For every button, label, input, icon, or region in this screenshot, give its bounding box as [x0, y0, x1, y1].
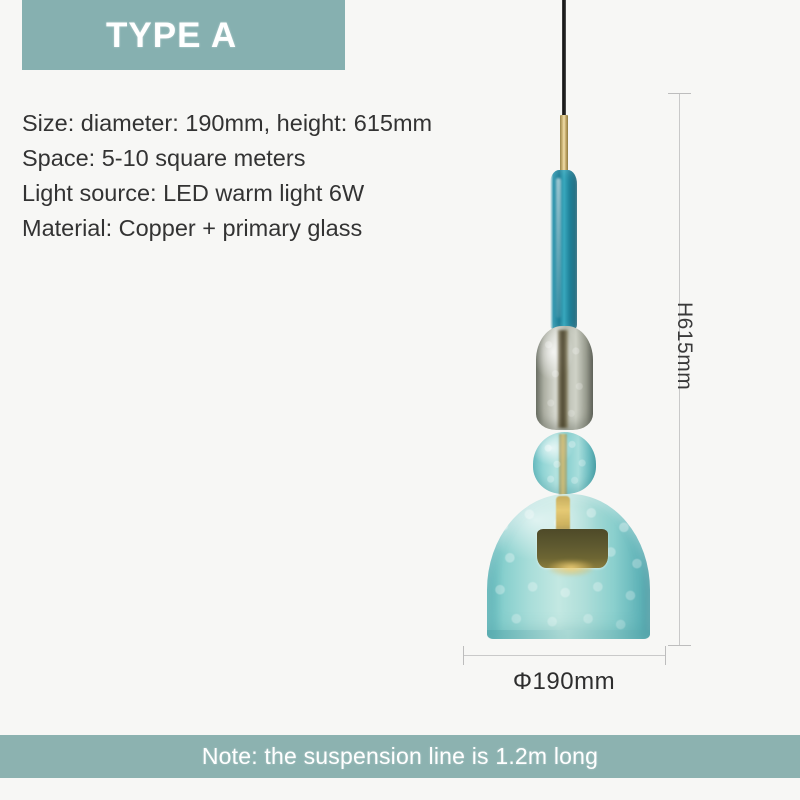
teal-sphere-dimple-texture: [533, 432, 596, 494]
diameter-dimension-label: Φ190mm: [463, 668, 665, 696]
height-dimension-cap-bottom: [668, 645, 691, 646]
height-dimension-label: H615mm: [664, 302, 696, 390]
diameter-dimension-cap-left: [463, 646, 464, 665]
teal-glass-stem-highlight: [556, 178, 561, 318]
note-banner-label: Note: the suspension line is 1.2m long: [202, 745, 598, 768]
product-spec-page: TYPE A Size: diameter: 190mm, height: 61…: [0, 0, 800, 800]
diameter-dimension-line: [463, 655, 665, 656]
bell-shade-rim: [487, 630, 650, 639]
smoky-glass-dimple-texture: [536, 326, 593, 430]
suspension-cord: [562, 0, 566, 118]
note-banner: Note: the suspension line is 1.2m long: [0, 735, 800, 778]
teal-glass-stem: [550, 170, 577, 330]
brass-rod: [560, 115, 568, 175]
lamp-socket-glow: [549, 560, 593, 576]
diameter-dimension-cap-right: [665, 646, 666, 665]
height-dimension-cap-top: [668, 93, 691, 94]
